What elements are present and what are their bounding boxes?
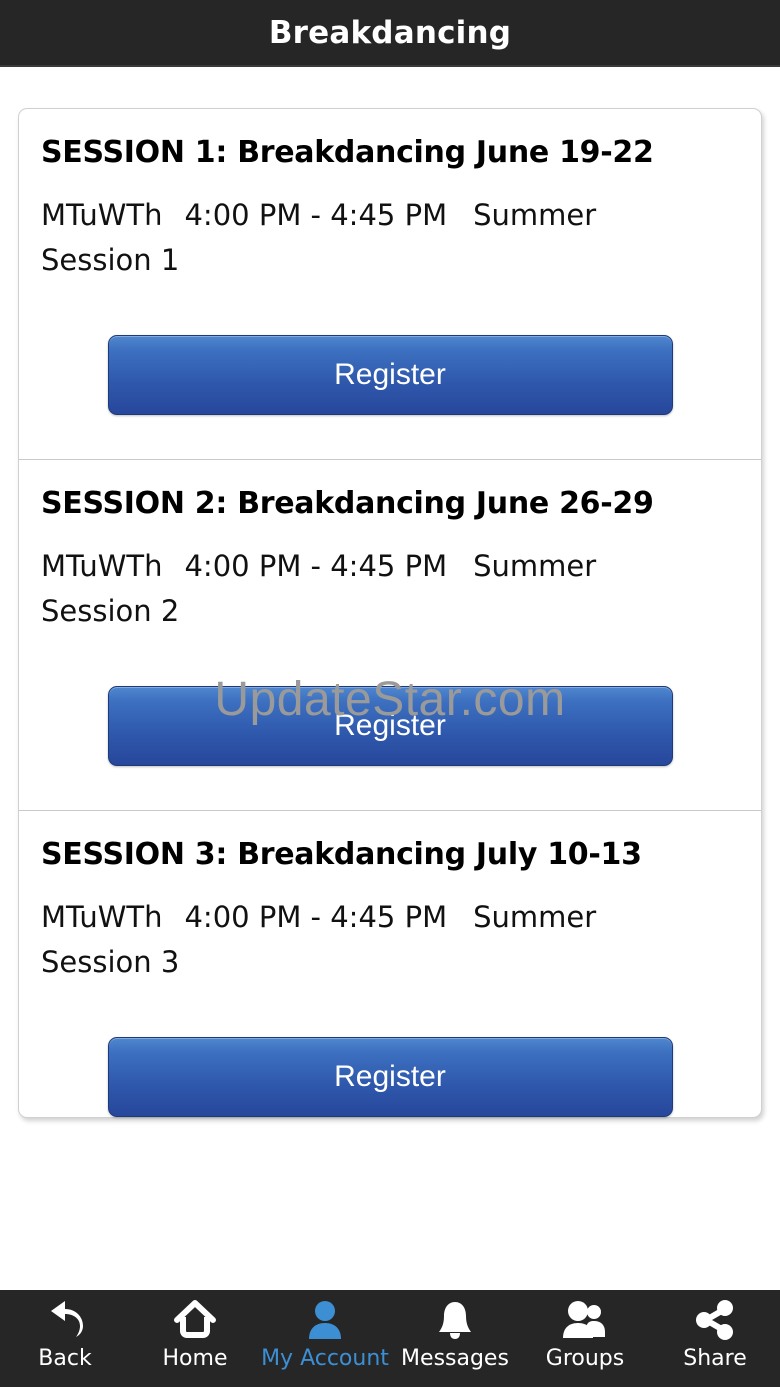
app-root: Breakdancing SESSION 1: Breakdancing Jun… [0,0,780,1387]
register-button-wrapper: Register [41,283,739,459]
register-button[interactable]: Register [108,1037,673,1117]
session-title: SESSION 2: Breakdancing June 26-29 [41,486,739,522]
bottom-navigation-bar: Back Home My Account [0,1290,780,1387]
nav-item-home[interactable]: Home [130,1290,260,1387]
session-time: 4:00 PM - 4:45 PM [184,198,447,232]
register-button[interactable]: Register [108,335,673,415]
session-item: SESSION 3: Breakdancing July 10-13 MTuWT… [19,810,761,1117]
undo-arrow-icon [43,1298,87,1342]
nav-item-share[interactable]: Share [650,1290,780,1387]
session-title: SESSION 3: Breakdancing July 10-13 [41,837,739,873]
session-list-scroll[interactable]: SESSION 1: Breakdancing June 19-22 MTuWT… [0,67,780,1290]
session-card-group: SESSION 1: Breakdancing June 19-22 MTuWT… [18,108,762,1118]
nav-item-groups[interactable]: Groups [520,1290,650,1387]
session-meta: MTuWTh4:00 PM - 4:45 PMSummer Session 1 [41,193,621,283]
bell-icon [435,1298,475,1342]
nav-item-back[interactable]: Back [0,1290,130,1387]
register-button[interactable]: Register [108,686,673,766]
nav-label-groups: Groups [546,1346,624,1371]
session-time: 4:00 PM - 4:45 PM [184,549,447,583]
session-meta: MTuWTh4:00 PM - 4:45 PMSummer Session 2 [41,544,621,634]
session-item: SESSION 2: Breakdancing June 26-29 MTuWT… [19,459,761,810]
nav-label-my-account: My Account [261,1346,389,1371]
register-button-wrapper: Register [41,634,739,810]
session-days: MTuWTh [41,549,162,583]
app-header: Breakdancing [0,0,780,67]
share-icon [694,1298,736,1342]
nav-item-messages[interactable]: Messages [390,1290,520,1387]
session-time: 4:00 PM - 4:45 PM [184,900,447,934]
home-icon [173,1298,217,1342]
person-icon [305,1298,345,1342]
page-title: Breakdancing [269,15,511,51]
session-title: SESSION 1: Breakdancing June 19-22 [41,135,739,171]
nav-label-home: Home [163,1346,228,1371]
session-days: MTuWTh [41,198,162,232]
nav-label-messages: Messages [401,1346,509,1371]
session-meta: MTuWTh4:00 PM - 4:45 PMSummer Session 3 [41,895,621,985]
nav-label-share: Share [683,1346,747,1371]
register-button-wrapper: Register [41,985,739,1117]
nav-label-back: Back [38,1346,91,1371]
session-item: SESSION 1: Breakdancing June 19-22 MTuWT… [19,109,761,459]
people-icon [562,1298,608,1342]
session-days: MTuWTh [41,900,162,934]
nav-item-my-account[interactable]: My Account [260,1290,390,1387]
